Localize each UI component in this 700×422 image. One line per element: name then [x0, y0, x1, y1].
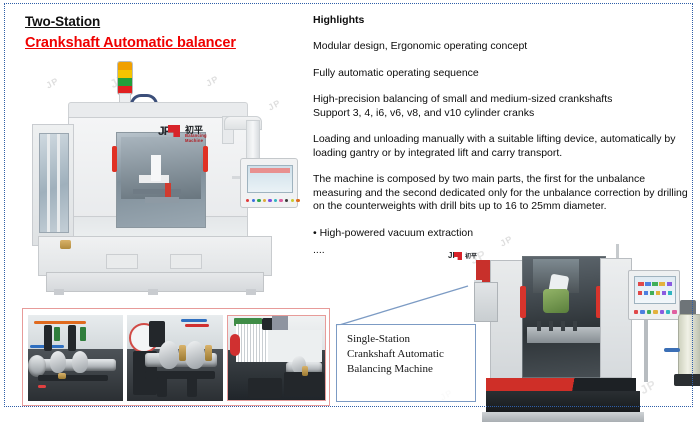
door-handle-left [112, 146, 117, 172]
caption-line3: Balancing Machine [347, 362, 475, 377]
single-station-machine-image: JP 初平 [448, 252, 696, 410]
logo-chinese: 初平 [465, 251, 477, 260]
drill-tool [561, 321, 565, 331]
base-vent [170, 254, 202, 269]
door-handle-right [203, 146, 208, 172]
caption-line2: Crankshaft Automatic [347, 347, 475, 362]
hmi-screen [634, 276, 676, 304]
vacuum-unit-base [674, 374, 700, 386]
machine-left-window [39, 133, 69, 233]
door-handle-left [520, 286, 526, 318]
base-vent [106, 254, 138, 269]
hmi-button-row [246, 199, 300, 202]
slide-canvas: JP JP JP JP JP JP JP JP JP JP JP JP JP J… [0, 0, 700, 420]
single-station-caption-box: Single-Station Crankshaft Automatic Bala… [336, 324, 476, 402]
hmi-screen-row [638, 282, 672, 286]
caption-line1: Single-Station [347, 332, 475, 347]
hmi-screen-titlebar [250, 168, 290, 173]
machine-side-door [474, 282, 498, 322]
highlight-item: • High-powered vacuum extraction [313, 227, 693, 241]
hmi-control-panel [240, 158, 298, 208]
vacuum-extraction-unit [678, 314, 700, 378]
machine-lower-body [486, 391, 640, 413]
highlight-item: The machine is composed by two main part… [313, 173, 693, 214]
signal-tower-icon [118, 62, 132, 94]
photo-strip [22, 308, 330, 406]
vacuum-hose [664, 348, 680, 352]
machine-red-accent [476, 260, 490, 282]
machine-accent-band [486, 378, 636, 392]
drill-tool [573, 321, 577, 331]
logo-tagline: Balancing Machine [185, 133, 220, 143]
highlights-text-block: Highlights Modular design, Ergonomic ope… [313, 14, 693, 271]
highlights-heading: Highlights [313, 14, 693, 26]
machine-working-area [522, 256, 606, 378]
machine-left-enclosure [32, 124, 74, 246]
hmi-screen [247, 165, 293, 193]
page-title-line1: Two-Station [25, 14, 100, 29]
photo-crankshaft-drilling-station [227, 315, 326, 401]
photo-crankshaft-measuring-station [127, 315, 223, 401]
highlight-item: High-precision balancing of small and me… [313, 93, 693, 120]
hmi-control-panel [628, 270, 680, 320]
machine-plinth [482, 412, 644, 422]
jp-brand-logo: JP 初平 Balancing Machine [158, 124, 220, 140]
photo-crankshaft-fixture-left [28, 315, 123, 401]
machine-viewing-window [116, 132, 206, 228]
hmi-screen-row [638, 291, 672, 295]
machine-base [38, 236, 272, 276]
machine-interior [121, 137, 201, 199]
highlight-item: Modular design, Ergonomic operating conc… [313, 40, 693, 54]
machine-foot [246, 289, 256, 295]
drill-tool [549, 321, 553, 331]
hmi-support-arm [644, 316, 648, 382]
page-title-line2: Crankshaft Automatic balancer [25, 35, 236, 51]
hmi-button-row [634, 310, 677, 314]
highlight-item: Fully automatic operating sequence [313, 67, 693, 81]
brass-fitting [60, 240, 71, 249]
highlight-item: Loading and unloading manually with a su… [313, 133, 693, 160]
machine-foot [148, 289, 158, 295]
green-fixture [543, 289, 569, 313]
machine-foot [54, 289, 64, 295]
two-station-machine-image: JP 初平 Balancing Machine [28, 58, 296, 303]
drill-tool [537, 321, 541, 331]
